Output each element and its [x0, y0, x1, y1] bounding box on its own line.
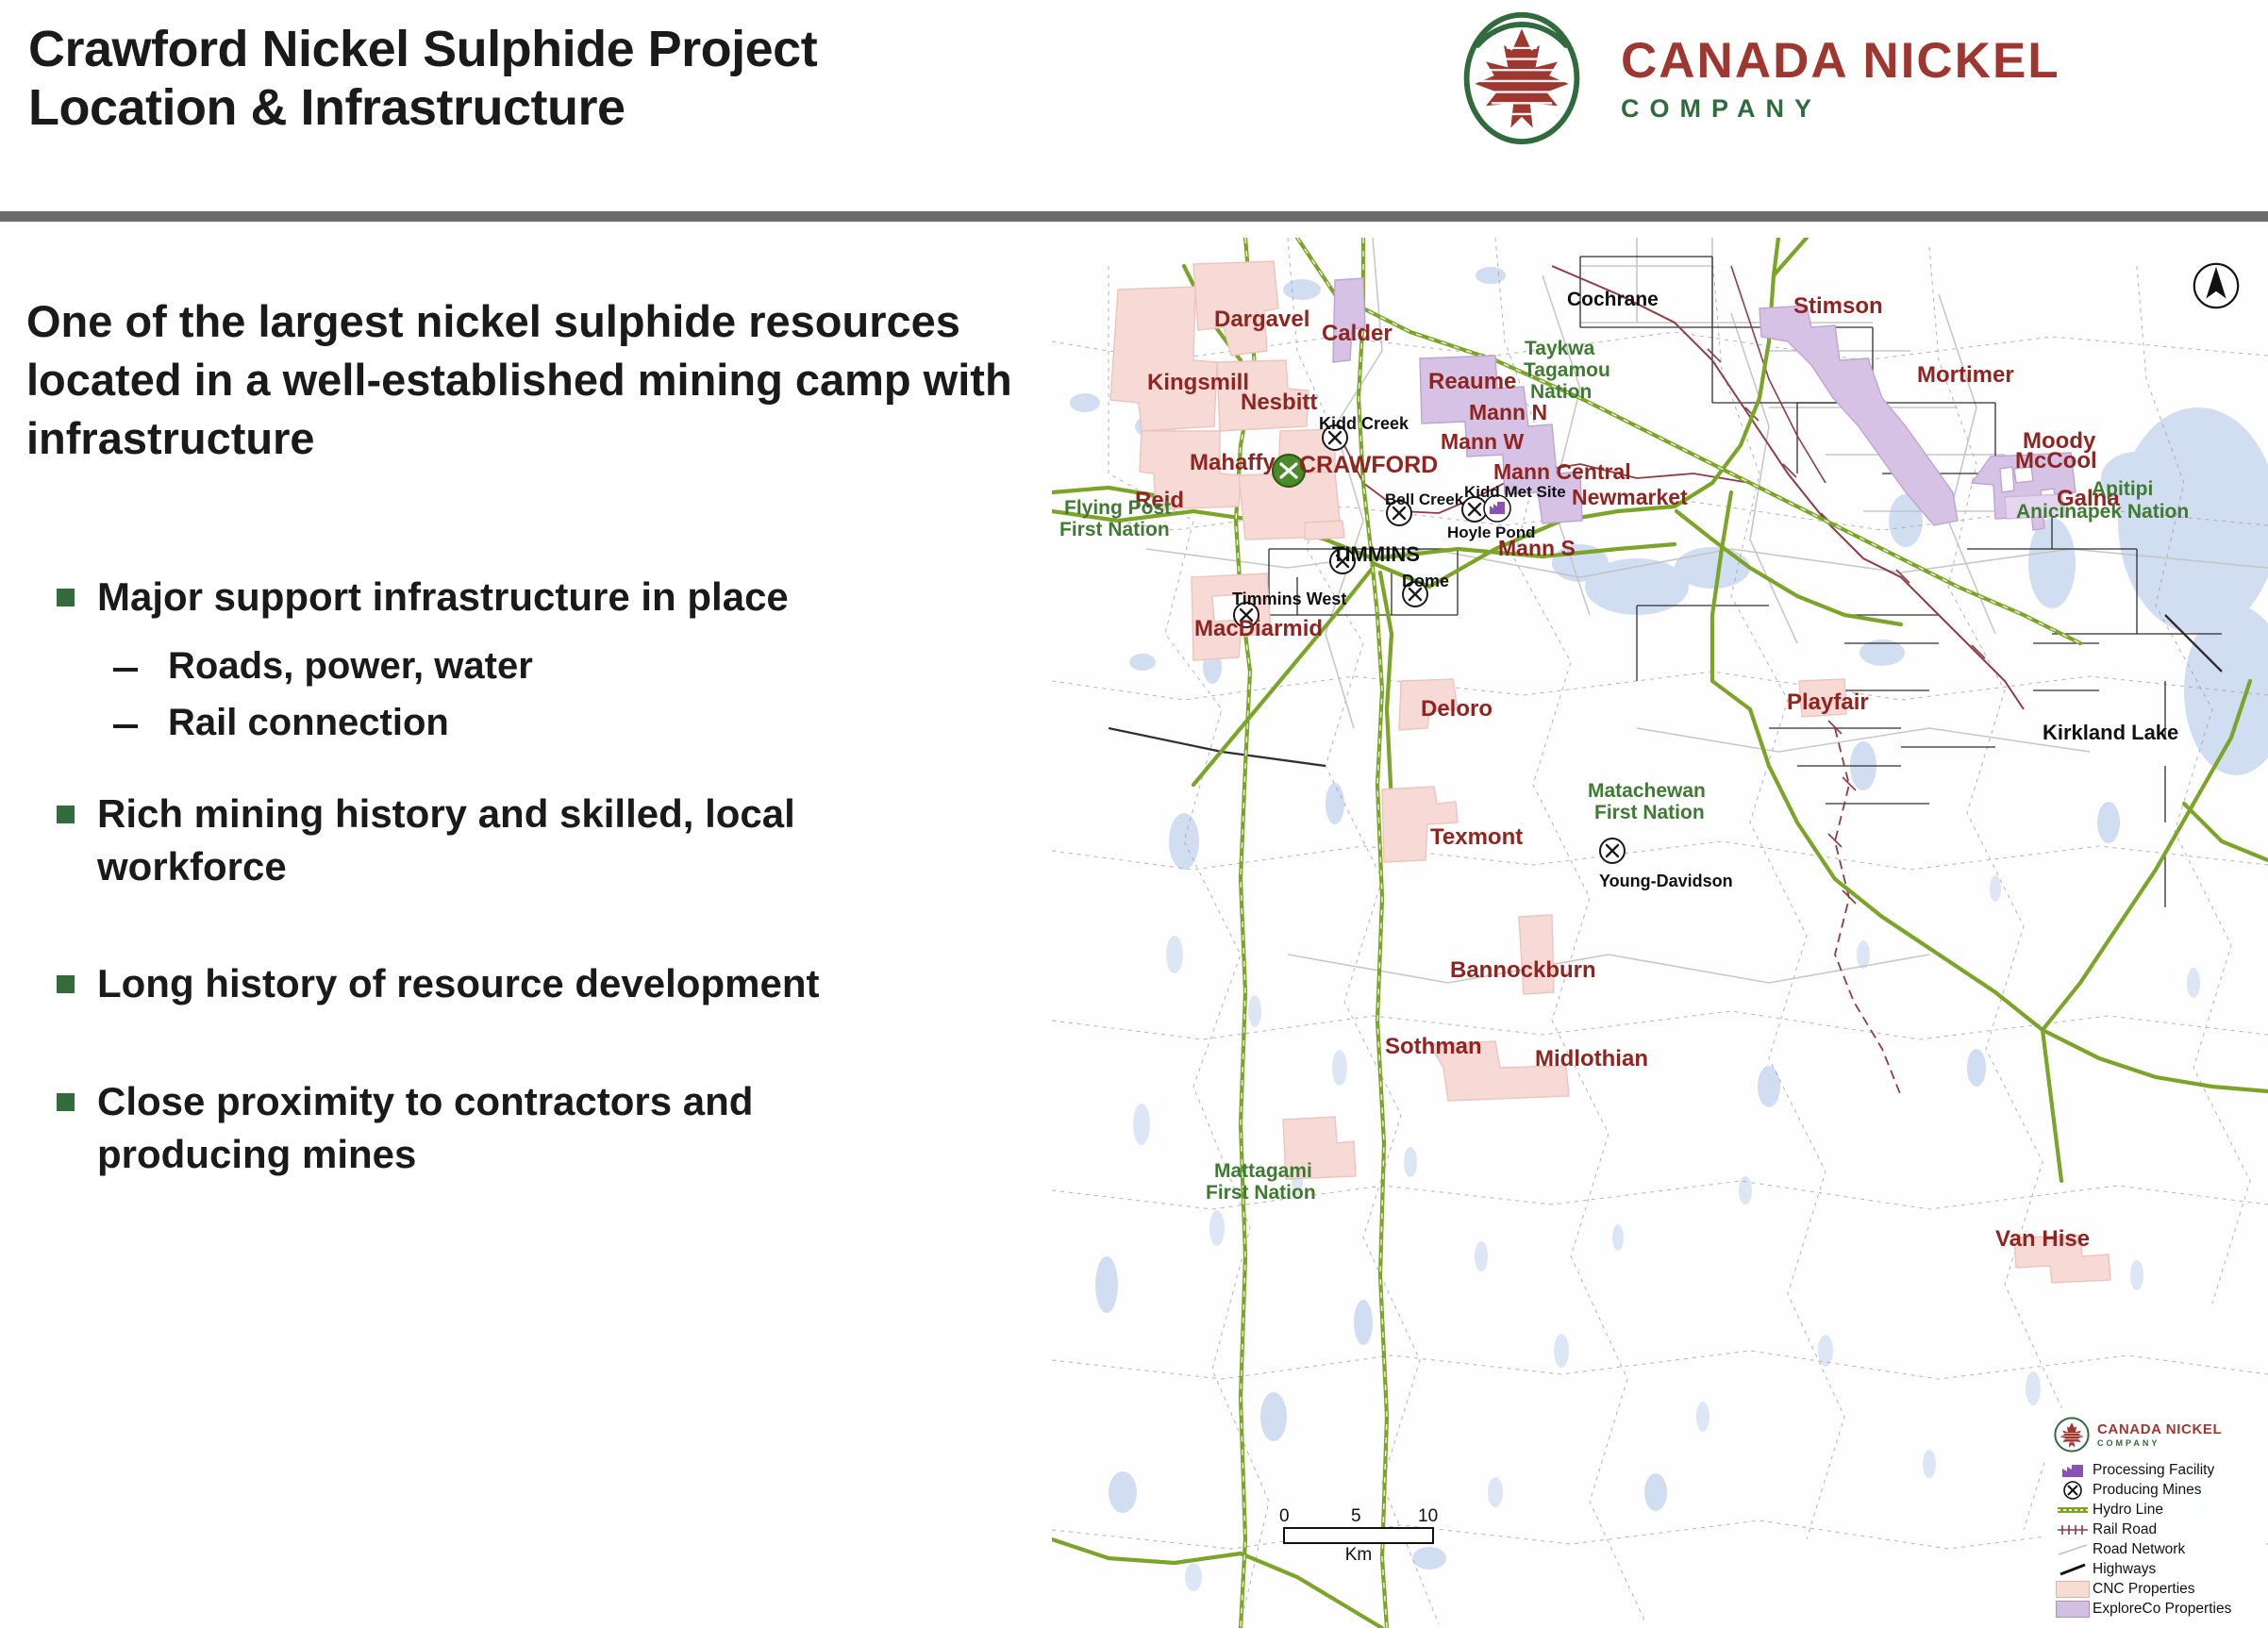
bullet-label: Rich mining history and skilled, local w… [97, 788, 906, 893]
bullet-label: Close proximity to contractors and produ… [97, 1075, 887, 1181]
sub-bullet-label: Rail connection [168, 698, 449, 748]
slide-header: Crawford Nickel Sulphide Project Locatio… [0, 0, 2268, 209]
legend-item-producing-mines: Producing Mines [2053, 1480, 2260, 1500]
district-overlay [2005, 494, 2066, 519]
bullet-item-3: Long history of resource development [57, 957, 1019, 1010]
bullet-label: Long history of resource development [97, 957, 819, 1010]
legend-logo-text: CANADA NICKEL COMPANY [2097, 1422, 2222, 1448]
title-line-1: Crawford Nickel Sulphide Project [28, 21, 1255, 79]
legend-item-hydro-line: Hydro Line [2053, 1500, 2260, 1520]
hydro-line-icon [2053, 1501, 2093, 1520]
cnc-swatch-icon [2053, 1580, 2093, 1599]
highway-icon [2053, 1560, 2093, 1579]
bullet-square-icon [57, 975, 75, 993]
legend-label: CNC Properties [2093, 1581, 2195, 1598]
rail-road-icon [2053, 1520, 2093, 1539]
legend-item-rail-road: Rail Road [2053, 1520, 2260, 1539]
content-column: One of the largest nickel sulphide resou… [0, 236, 1047, 1622]
kidd-met-processing-facility [1484, 495, 1510, 522]
factory-icon [2053, 1461, 2093, 1480]
dash-icon [113, 724, 138, 728]
legend-logo-name: CANADA NICKEL [2097, 1422, 2222, 1437]
bullet-item-2: Rich mining history and skilled, local w… [57, 788, 906, 893]
legend-label: Road Network [2093, 1541, 2185, 1558]
logo-wordmark: CANADA NICKEL COMPANY [1621, 36, 2060, 124]
legend-item-cnc-properties: CNC Properties [2053, 1579, 2260, 1599]
sub-bullet-1-2: Rail connection [113, 698, 962, 748]
lede-paragraph: One of the largest nickel sulphide resou… [26, 292, 1036, 468]
sub-bullet-label: Roads, power, water [168, 641, 533, 691]
map-legend: CANADA NICKEL COMPANY Processing Facilit… [2045, 1408, 2266, 1626]
bullet-square-icon [57, 1093, 75, 1111]
scalebar-unit: Km [1283, 1545, 1434, 1566]
legend-logo: CANADA NICKEL COMPANY [2053, 1416, 2260, 1454]
bullet-item-1: Major support infrastructure in place [57, 571, 1019, 623]
legend-label: Hydro Line [2093, 1502, 2163, 1519]
legend-item-highways: Highways [2053, 1559, 2260, 1579]
legend-maple-leaf-icon [2053, 1416, 2091, 1454]
north-arrow-icon [2189, 258, 2243, 313]
crawford-marker [1273, 455, 1305, 487]
bullet-label: Major support infrastructure in place [97, 571, 789, 623]
legend-item-processing-facility: Processing Facility [2053, 1460, 2260, 1480]
scalebar-bar [1283, 1527, 1434, 1544]
location-map[interactable]: Dargavel Calder Kingsmill Nesbitt Reaume… [1052, 238, 2268, 1628]
bullet-square-icon [57, 806, 75, 823]
logo-name: CANADA NICKEL [1621, 36, 2060, 86]
scalebar-tick-0: 0 [1279, 1506, 1290, 1527]
map-scalebar: 0 5 10 Km [1283, 1506, 1434, 1566]
legend-logo-sub: COMPANY [2097, 1438, 2222, 1448]
road-network-icon [2053, 1540, 2093, 1559]
title-line-2: Location & Infrastructure [28, 79, 1255, 138]
dash-icon [113, 668, 138, 672]
header-divider [0, 211, 2268, 222]
legend-label: Processing Facility [2093, 1462, 2214, 1479]
page-title: Crawford Nickel Sulphide Project Locatio… [28, 21, 1255, 137]
scalebar-ticks: 0 5 10 [1283, 1506, 1434, 1527]
legend-label: Highways [2093, 1561, 2156, 1578]
scalebar-tick-5: 5 [1351, 1506, 1361, 1527]
company-logo: CANADA NICKEL COMPANY [1453, 8, 2151, 149]
scalebar-tick-10: 10 [1418, 1506, 1438, 1527]
bullet-item-4: Close proximity to contractors and produ… [57, 1075, 887, 1181]
sub-bullet-1-1: Roads, power, water [113, 641, 962, 691]
bullet-square-icon [57, 589, 75, 606]
legend-item-road-network: Road Network [2053, 1539, 2260, 1559]
legend-label: ExploreCo Properties [2093, 1601, 2231, 1618]
maple-leaf-icon [1453, 9, 1591, 147]
legend-item-exploreco-properties: ExploreCo Properties [2053, 1599, 2260, 1619]
legend-label: Producing Mines [2093, 1482, 2201, 1499]
legend-label: Rail Road [2093, 1521, 2157, 1538]
logo-subtitle: COMPANY [1621, 94, 2060, 124]
exploreco-swatch-icon [2053, 1600, 2093, 1619]
crossed-hammers-icon [2053, 1481, 2093, 1500]
